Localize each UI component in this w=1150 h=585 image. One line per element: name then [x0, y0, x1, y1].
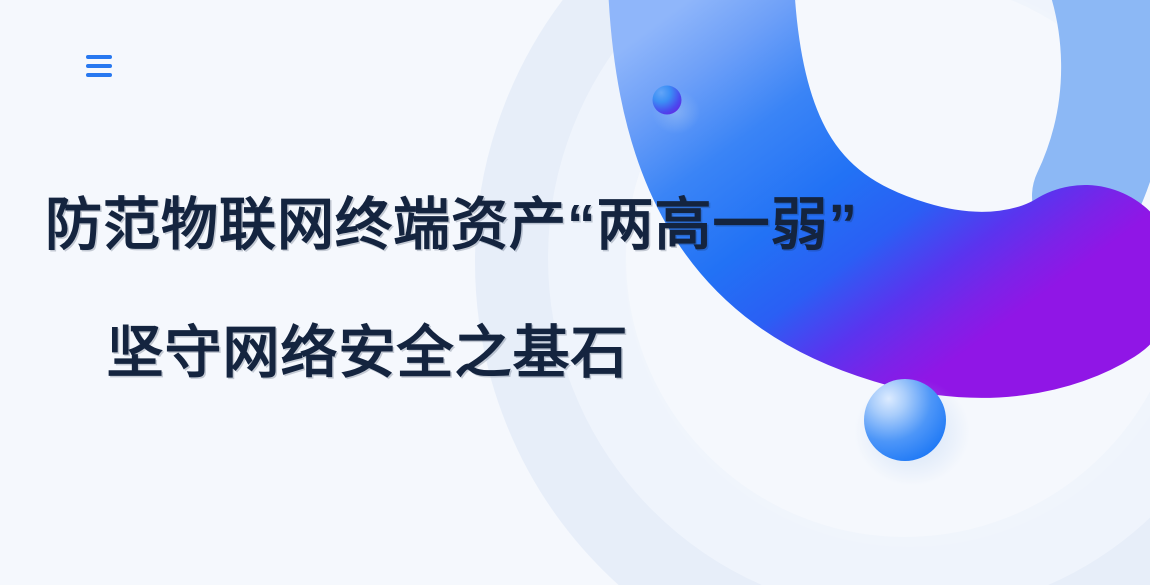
slide-title-line-1: 防范物联网终端资产“两高一弱”	[0, 186, 900, 264]
slide-title-line-2: 坚守网络安全之基石	[0, 314, 900, 392]
light-blue-arc	[1082, 0, 1150, 210]
hamburger-menu-icon	[86, 55, 112, 59]
large-sphere-shadow	[854, 378, 970, 486]
small-gradient-sphere	[653, 86, 682, 115]
inner-white-gap	[930, 0, 1150, 120]
hamburger-menu-button[interactable]	[80, 48, 118, 84]
slide-canvas: 防范物联网终端资产“两高一弱” 坚守网络安全之基石	[0, 0, 1150, 585]
slide-title-block: 防范物联网终端资产“两高一弱” 坚守网络安全之基石	[0, 186, 900, 392]
small-sphere-shadow	[652, 90, 700, 134]
hamburger-menu-icon-bar-2	[86, 64, 112, 68]
hamburger-menu-icon-bar-3	[86, 73, 112, 77]
